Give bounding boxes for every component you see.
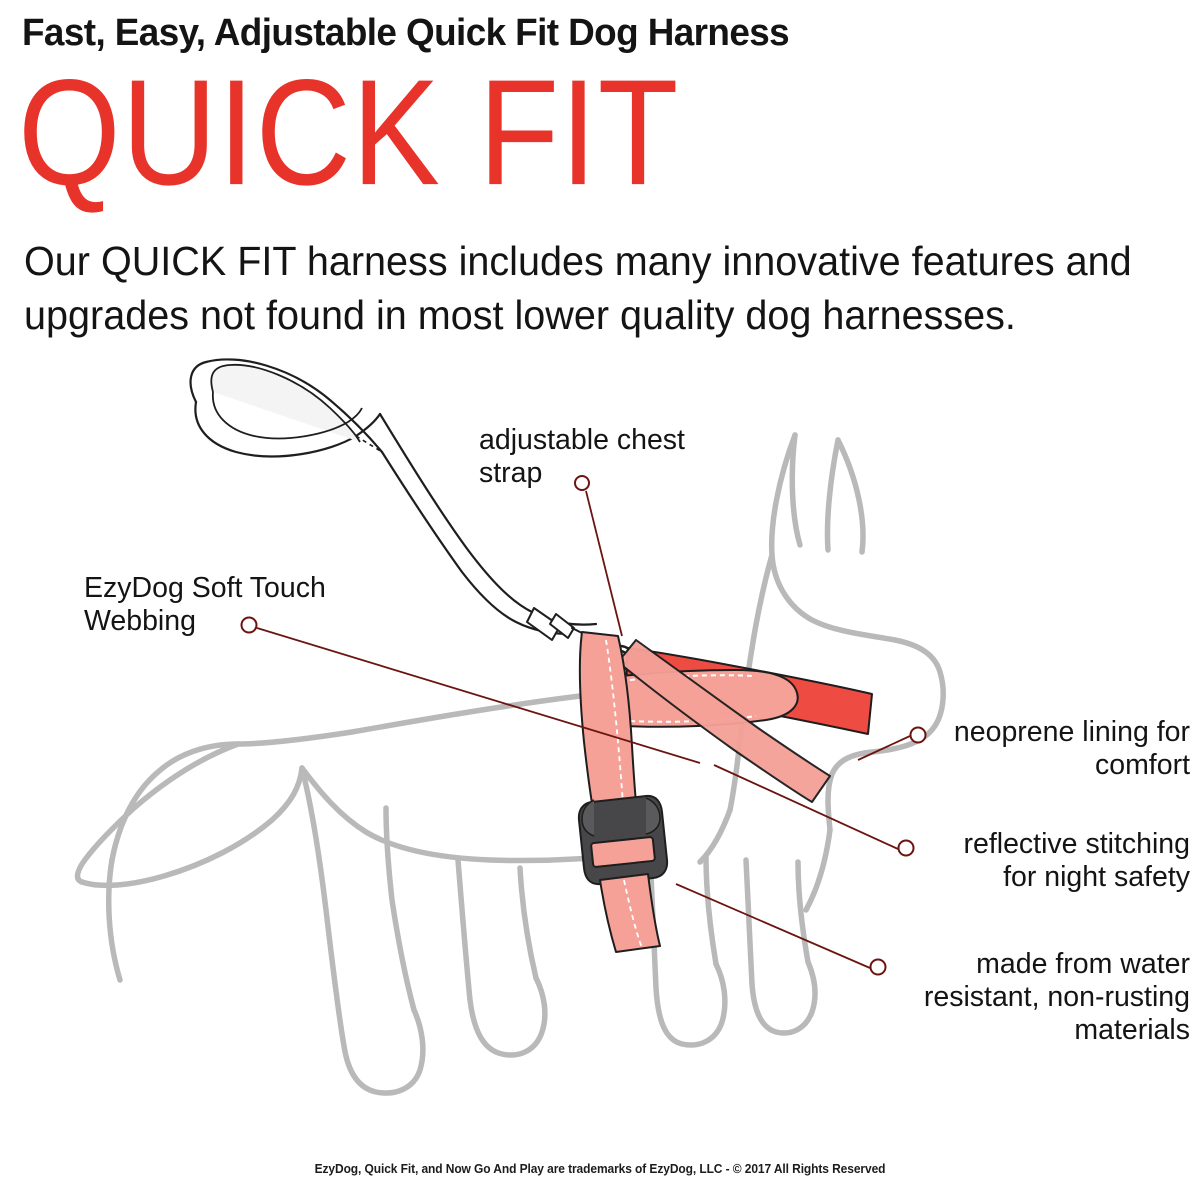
leader-line-water-resistant	[676, 884, 870, 968]
leader-line-chest-strap	[586, 491, 622, 636]
dog-body-outline	[78, 435, 944, 1093]
callout-label-water-resistant-materials: made from water resistant, non-rusting m…	[850, 948, 1190, 1047]
trademark-footer: EzyDog, Quick Fit, and Now Go And Play a…	[24, 1162, 1176, 1176]
subheading-text: Our QUICK FIT harness includes many inno…	[24, 234, 1134, 342]
side-release-buckle	[579, 796, 667, 884]
callout-label-ezydog-soft-touch-webbing: EzyDog Soft Touch Webbing	[84, 572, 384, 638]
callout-label-reflective-stitching: reflective stitching for night safety	[880, 828, 1190, 894]
callout-label-adjustable-chest-strap: adjustable chest strap	[479, 424, 739, 490]
infographic-page: Fast, Easy, Adjustable Quick Fit Dog Har…	[0, 0, 1200, 1200]
callout-label-neoprene-lining: neoprene lining for comfort	[895, 716, 1190, 782]
leash-slider-hardware	[527, 608, 574, 640]
page-title: Fast, Easy, Adjustable Quick Fit Dog Har…	[22, 14, 789, 52]
brand-wordmark: QUICK FIT	[18, 58, 679, 209]
